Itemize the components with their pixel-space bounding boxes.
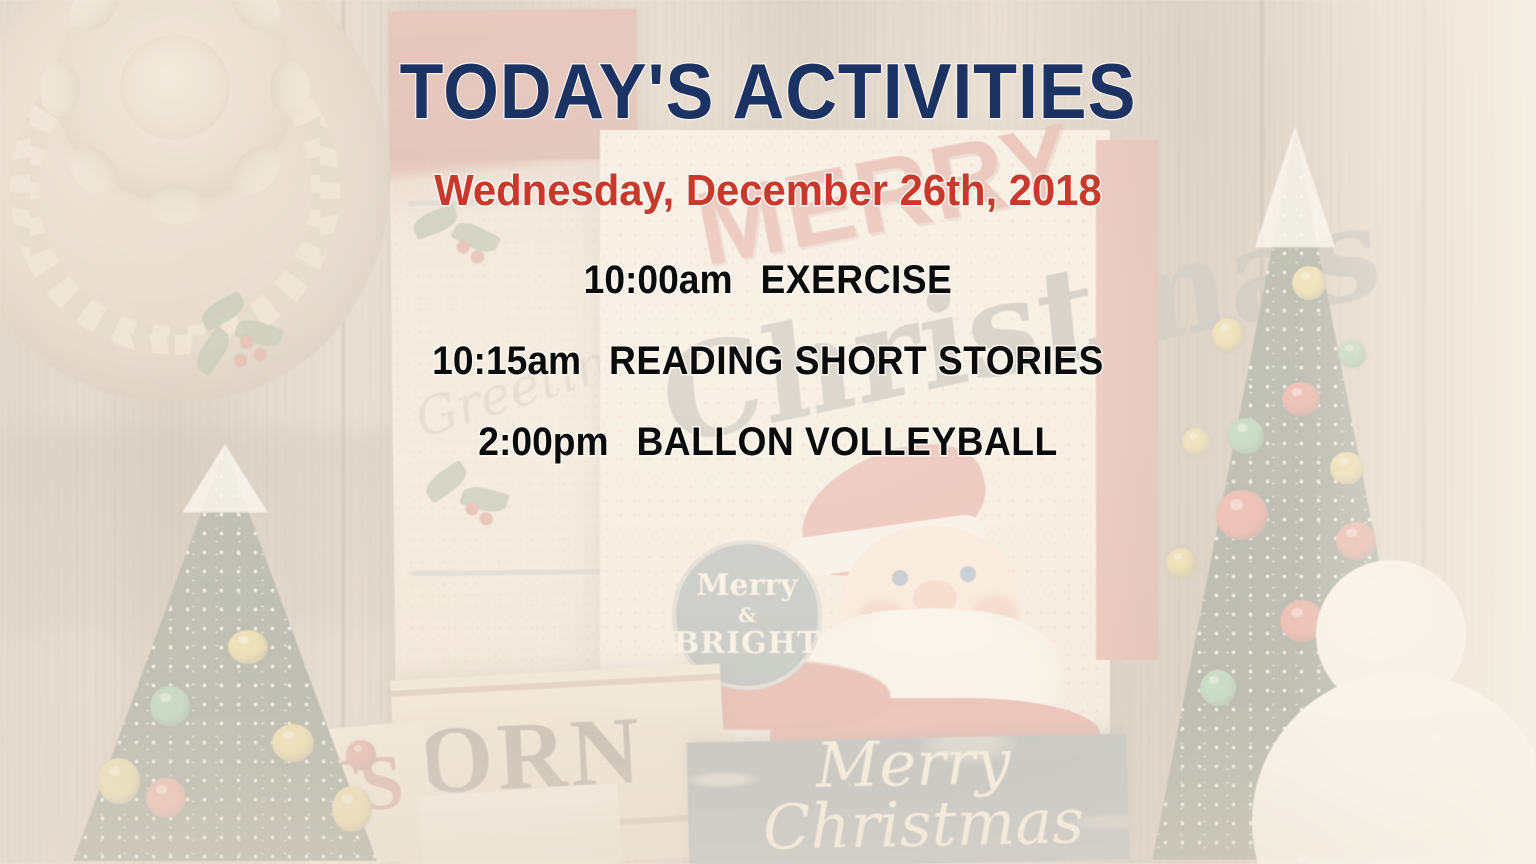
activity-time: 10:00am: [584, 258, 733, 302]
activity-name: EXERCISE: [760, 258, 952, 302]
page-title: TODAY'S ACTIVITIES: [61, 46, 1474, 137]
activity-time: 10:15am: [432, 339, 581, 383]
activity-name: READING SHORT STORIES: [609, 339, 1104, 383]
activity-name: BALLON VOLLEYBALL: [636, 420, 1057, 464]
activity-row: 10:00amEXERCISE: [54, 258, 1482, 303]
activity-row: 2:00pmBALLON VOLLEYBALL: [54, 420, 1482, 465]
activity-time: 2:00pm: [478, 420, 608, 464]
activities-slide: Greetings MERRY Christmas Me: [0, 0, 1536, 864]
date-subtitle: Wednesday, December 26th, 2018: [38, 166, 1497, 216]
text-layer: TODAY'S ACTIVITIES Wednesday, December 2…: [0, 0, 1536, 864]
activity-row: 10:15amREADING SHORT STORIES: [54, 339, 1482, 384]
